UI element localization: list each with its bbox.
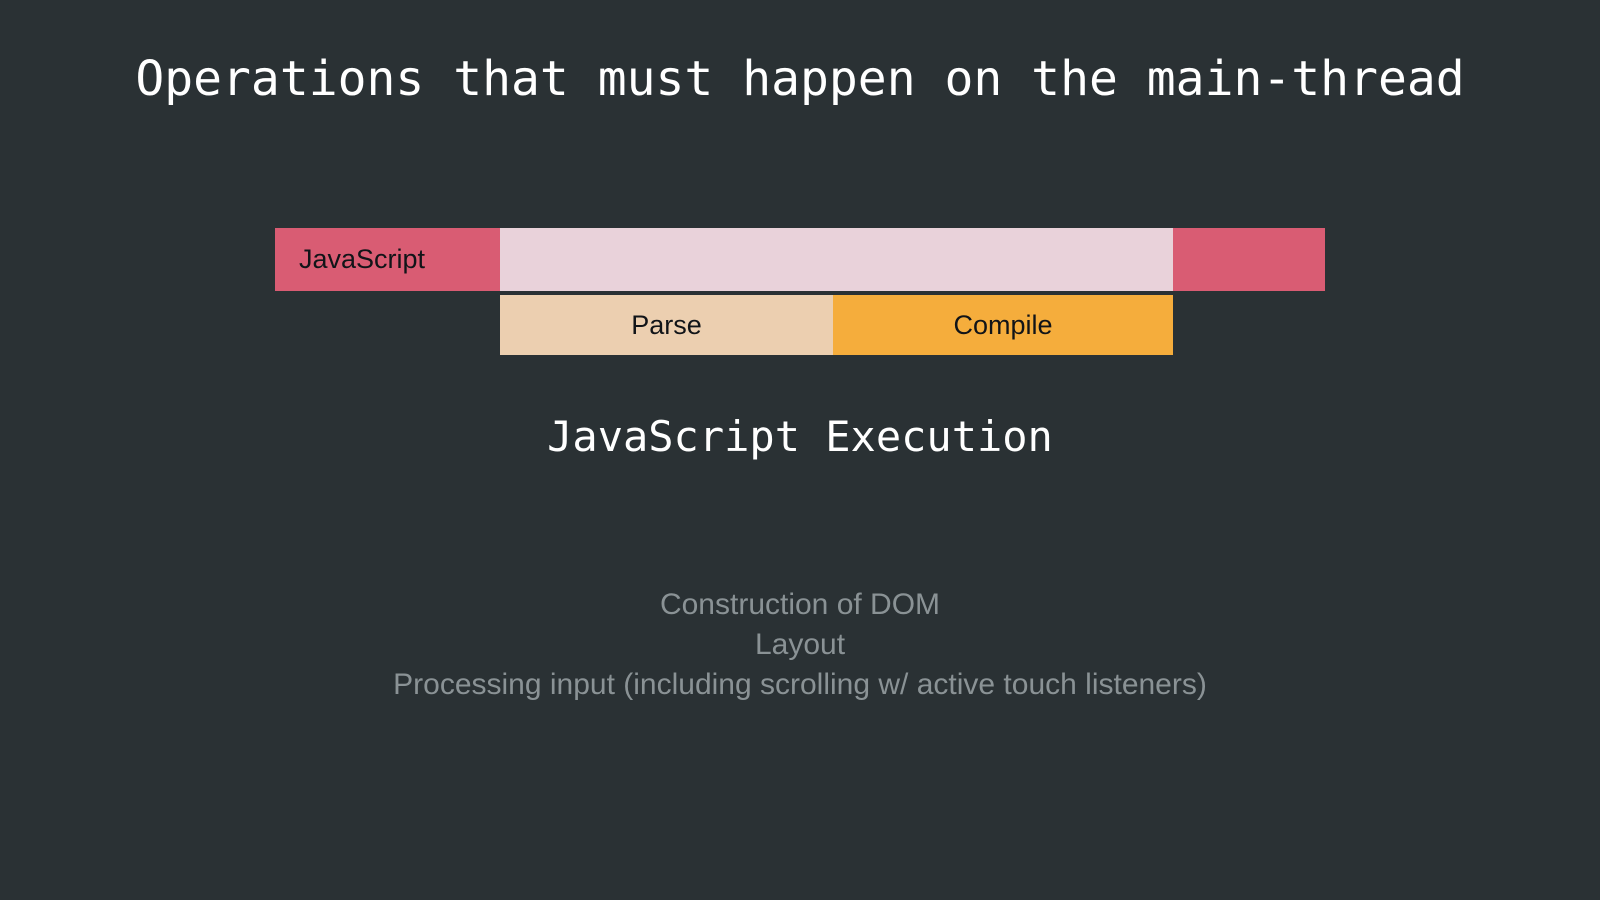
bar-segment-javascript-label: JavaScript — [299, 246, 425, 273]
note-line-3: Processing input (including scrolling w/… — [0, 665, 1600, 705]
bar-segment-parse-label: Parse — [631, 312, 702, 339]
diagram-caption: JavaScript Execution — [0, 412, 1600, 462]
page-title: Operations that must happen on the main-… — [0, 52, 1600, 107]
parse-compile-bar-row: Parse Compile — [500, 295, 1173, 355]
javascript-bar-row: JavaScript — [275, 228, 1325, 291]
note-line-2: Layout — [0, 625, 1600, 665]
note-line-1: Construction of DOM — [0, 585, 1600, 625]
main-thread-notes-list: Construction of DOM Layout Processing in… — [0, 585, 1600, 705]
bar-segment-compile: Compile — [833, 295, 1173, 355]
bar-segment-javascript-body — [500, 228, 1173, 291]
bar-segment-compile-label: Compile — [953, 312, 1052, 339]
bar-segment-javascript-tail — [1173, 228, 1325, 291]
main-thread-timeline-diagram: JavaScript Parse Compile — [275, 228, 1325, 356]
bar-segment-javascript: JavaScript — [275, 228, 500, 291]
bar-segment-parse: Parse — [500, 295, 833, 355]
slide-root: Operations that must happen on the main-… — [0, 0, 1600, 900]
